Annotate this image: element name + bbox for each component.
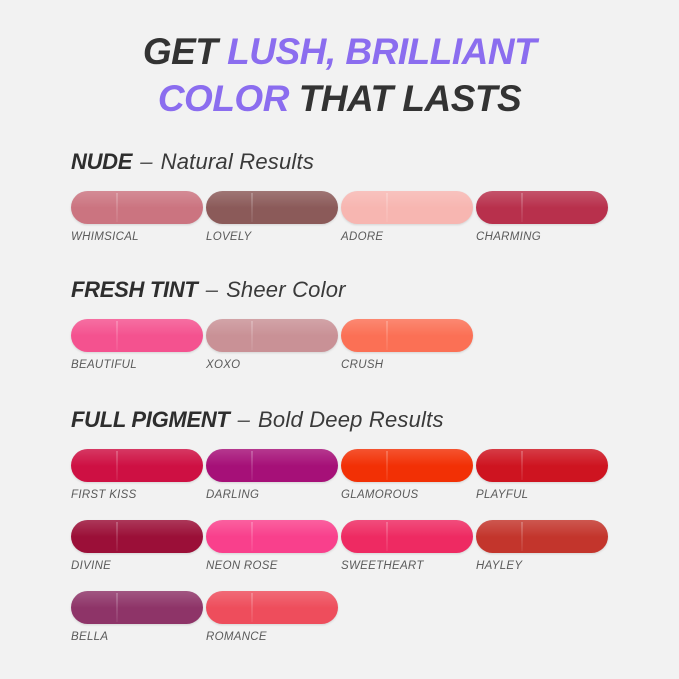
swatch-cell[interactable]: FIRST KISS	[71, 449, 206, 501]
page-title-line-1-accent: LUSH, BRILLIANT	[227, 31, 536, 72]
swatch-color-chip[interactable]	[341, 520, 473, 553]
section-fresh-tint-category: FRESH TINT	[71, 277, 198, 302]
section-full-pigment: FULL PIGMENT – Bold Deep Results FIRST K…	[0, 409, 679, 662]
section-full-pigment-swatch-grid: FIRST KISSDARLINGGLAMOROUSPLAYFULDIVINEN…	[71, 449, 611, 662]
swatch-cell[interactable]: PLAYFUL	[476, 449, 611, 501]
section-nude-dash: –	[138, 149, 154, 174]
swatch-label: DIVINE	[71, 560, 206, 572]
swatch-label: NEON ROSE	[206, 560, 341, 572]
swatch-color-chip[interactable]	[341, 449, 473, 482]
section-full-pigment-dash: –	[236, 407, 252, 432]
swatch-label: FIRST KISS	[71, 489, 206, 501]
swatch-label: SWEETHEART	[341, 560, 476, 572]
swatch-label: DARLING	[206, 489, 341, 501]
swatch-color-chip[interactable]	[206, 449, 338, 482]
swatch-cell[interactable]: DARLING	[206, 449, 341, 501]
swatch-color-chip[interactable]	[71, 319, 203, 352]
swatch-cell[interactable]: ADORE	[341, 191, 476, 243]
section-nude-heading: NUDE – Natural Results	[71, 151, 679, 173]
swatch-label: LOVELY	[206, 231, 341, 243]
section-full-pigment-heading: FULL PIGMENT – Bold Deep Results	[71, 409, 679, 431]
section-full-pigment-subtitle: Bold Deep Results	[258, 407, 444, 432]
page-title-line-1: GET LUSH, BRILLIANT	[0, 28, 679, 75]
swatch-cell[interactable]: LOVELY	[206, 191, 341, 243]
swatch-color-chip[interactable]	[341, 319, 473, 352]
section-fresh-tint-swatch-grid: BEAUTIFULXOXOCRUSH	[71, 319, 611, 390]
swatch-color-chip[interactable]	[206, 520, 338, 553]
section-nude-category: NUDE	[71, 149, 132, 174]
section-nude-subtitle: Natural Results	[161, 149, 314, 174]
swatch-color-chip[interactable]	[206, 319, 338, 352]
swatch-label: BELLA	[71, 631, 206, 643]
swatch-label: ADORE	[341, 231, 476, 243]
swatch-color-chip[interactable]	[206, 591, 338, 624]
swatch-color-chip[interactable]	[476, 191, 608, 224]
swatch-label: ROMANCE	[206, 631, 341, 643]
lipstick-shade-chart: GET LUSH, BRILLIANT COLOR THAT LASTS NUD…	[0, 0, 679, 679]
swatch-color-chip[interactable]	[71, 191, 203, 224]
page-title-line-2: COLOR THAT LASTS	[0, 75, 679, 122]
swatch-cell[interactable]: BELLA	[71, 591, 206, 643]
swatch-color-chip[interactable]	[341, 191, 473, 224]
swatch-label: XOXO	[206, 359, 341, 371]
section-nude-swatch-grid: WHIMSICALLOVELYADORECHARMING	[71, 191, 611, 262]
swatch-cell[interactable]: DIVINE	[71, 520, 206, 572]
swatch-cell[interactable]: GLAMOROUS	[341, 449, 476, 501]
section-fresh-tint-subtitle: Sheer Color	[226, 277, 346, 302]
swatch-label: HAYLEY	[476, 560, 611, 572]
section-fresh-tint-heading: FRESH TINT – Sheer Color	[71, 279, 679, 301]
section-full-pigment-category: FULL PIGMENT	[71, 407, 230, 432]
page-title-line-2-accent: COLOR	[158, 78, 289, 119]
swatch-color-chip[interactable]	[71, 520, 203, 553]
swatch-cell[interactable]: NEON ROSE	[206, 520, 341, 572]
swatch-label: PLAYFUL	[476, 489, 611, 501]
swatch-label: CRUSH	[341, 359, 476, 371]
swatch-color-chip[interactable]	[71, 449, 203, 482]
swatch-cell[interactable]: XOXO	[206, 319, 341, 371]
page-title: GET LUSH, BRILLIANT COLOR THAT LASTS	[0, 28, 679, 123]
swatch-cell[interactable]: HAYLEY	[476, 520, 611, 572]
swatch-cell[interactable]: ROMANCE	[206, 591, 341, 643]
swatch-cell[interactable]: CRUSH	[341, 319, 476, 371]
swatch-color-chip[interactable]	[476, 520, 608, 553]
page-title-line-2-plain: THAT LASTS	[289, 78, 521, 119]
swatch-color-chip[interactable]	[71, 591, 203, 624]
swatch-cell[interactable]: WHIMSICAL	[71, 191, 206, 243]
swatch-label: GLAMOROUS	[341, 489, 476, 501]
swatch-label: WHIMSICAL	[71, 231, 206, 243]
swatch-color-chip[interactable]	[476, 449, 608, 482]
swatch-cell[interactable]: CHARMING	[476, 191, 611, 243]
section-nude: NUDE – Natural Results WHIMSICALLOVELYAD…	[0, 151, 679, 262]
swatch-cell[interactable]: BEAUTIFUL	[71, 319, 206, 371]
swatch-label: CHARMING	[476, 231, 611, 243]
swatch-cell[interactable]: SWEETHEART	[341, 520, 476, 572]
section-fresh-tint-dash: –	[204, 277, 220, 302]
page-title-line-1-plain: GET	[143, 31, 227, 72]
swatch-label: BEAUTIFUL	[71, 359, 206, 371]
section-fresh-tint: FRESH TINT – Sheer Color BEAUTIFULXOXOCR…	[0, 279, 679, 390]
swatch-color-chip[interactable]	[206, 191, 338, 224]
